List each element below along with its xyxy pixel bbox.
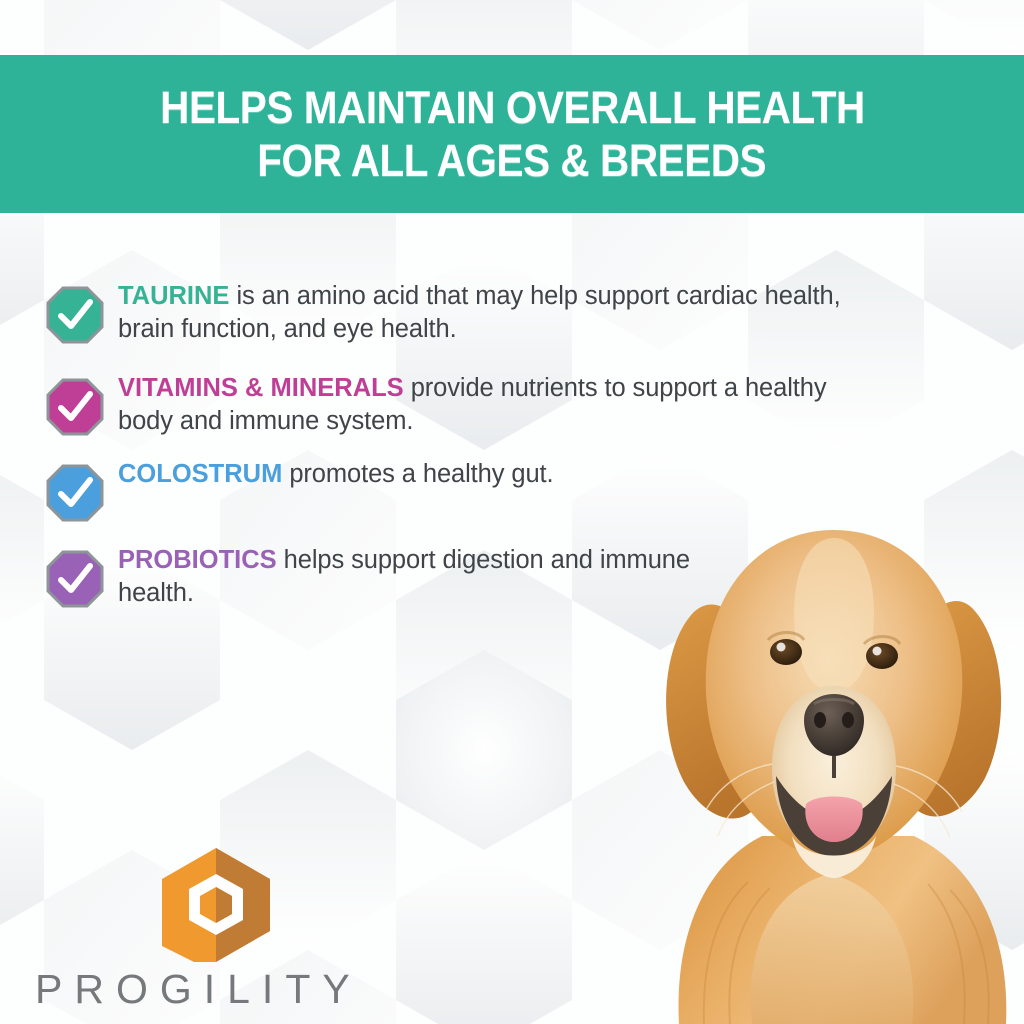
benefit-text-probiotics: PROBIOTICS helps support digestion and i… bbox=[118, 544, 718, 610]
headline-banner: HELPS MAINTAIN OVERALL HEALTH FOR ALL AG… bbox=[0, 55, 1024, 213]
benefit-text-vitamins-minerals: VITAMINS & MINERALS provide nutrients to… bbox=[118, 372, 858, 438]
benefit-item-taurine: TAURINE is an amino acid that may help s… bbox=[0, 270, 1024, 346]
check-octagon-icon bbox=[46, 378, 104, 436]
promo-graphic: HELPS MAINTAIN OVERALL HEALTH FOR ALL AG… bbox=[0, 0, 1024, 1024]
progility-hex-p-logo-icon bbox=[157, 846, 275, 964]
benefit-keyword-vitamins-minerals: VITAMINS & MINERALS bbox=[118, 374, 404, 402]
check-octagon-icon bbox=[46, 550, 104, 608]
benefit-keyword-taurine: TAURINE bbox=[118, 282, 229, 310]
brand-logo: PROGILITY bbox=[35, 846, 415, 1012]
check-octagon-icon bbox=[46, 464, 104, 522]
benefit-item-vitamins-minerals: VITAMINS & MINERALS provide nutrients to… bbox=[0, 362, 1024, 438]
golden-retriever-photo bbox=[644, 464, 1024, 1024]
benefit-text-taurine: TAURINE is an amino acid that may help s… bbox=[118, 280, 878, 346]
benefit-keyword-colostrum: COLOSTRUM bbox=[118, 460, 282, 488]
benefit-text-colostrum: COLOSTRUM promotes a healthy gut. bbox=[118, 458, 554, 491]
logo-wordmark: PROGILITY bbox=[35, 966, 415, 1012]
benefit-body-colostrum: promotes a healthy gut. bbox=[282, 460, 553, 488]
benefit-keyword-probiotics: PROBIOTICS bbox=[118, 546, 277, 574]
check-octagon-icon bbox=[46, 286, 104, 344]
headline-line-1: HELPS MAINTAIN OVERALL HEALTH bbox=[160, 81, 865, 134]
headline-line-2: FOR ALL AGES & BREEDS bbox=[258, 134, 767, 187]
